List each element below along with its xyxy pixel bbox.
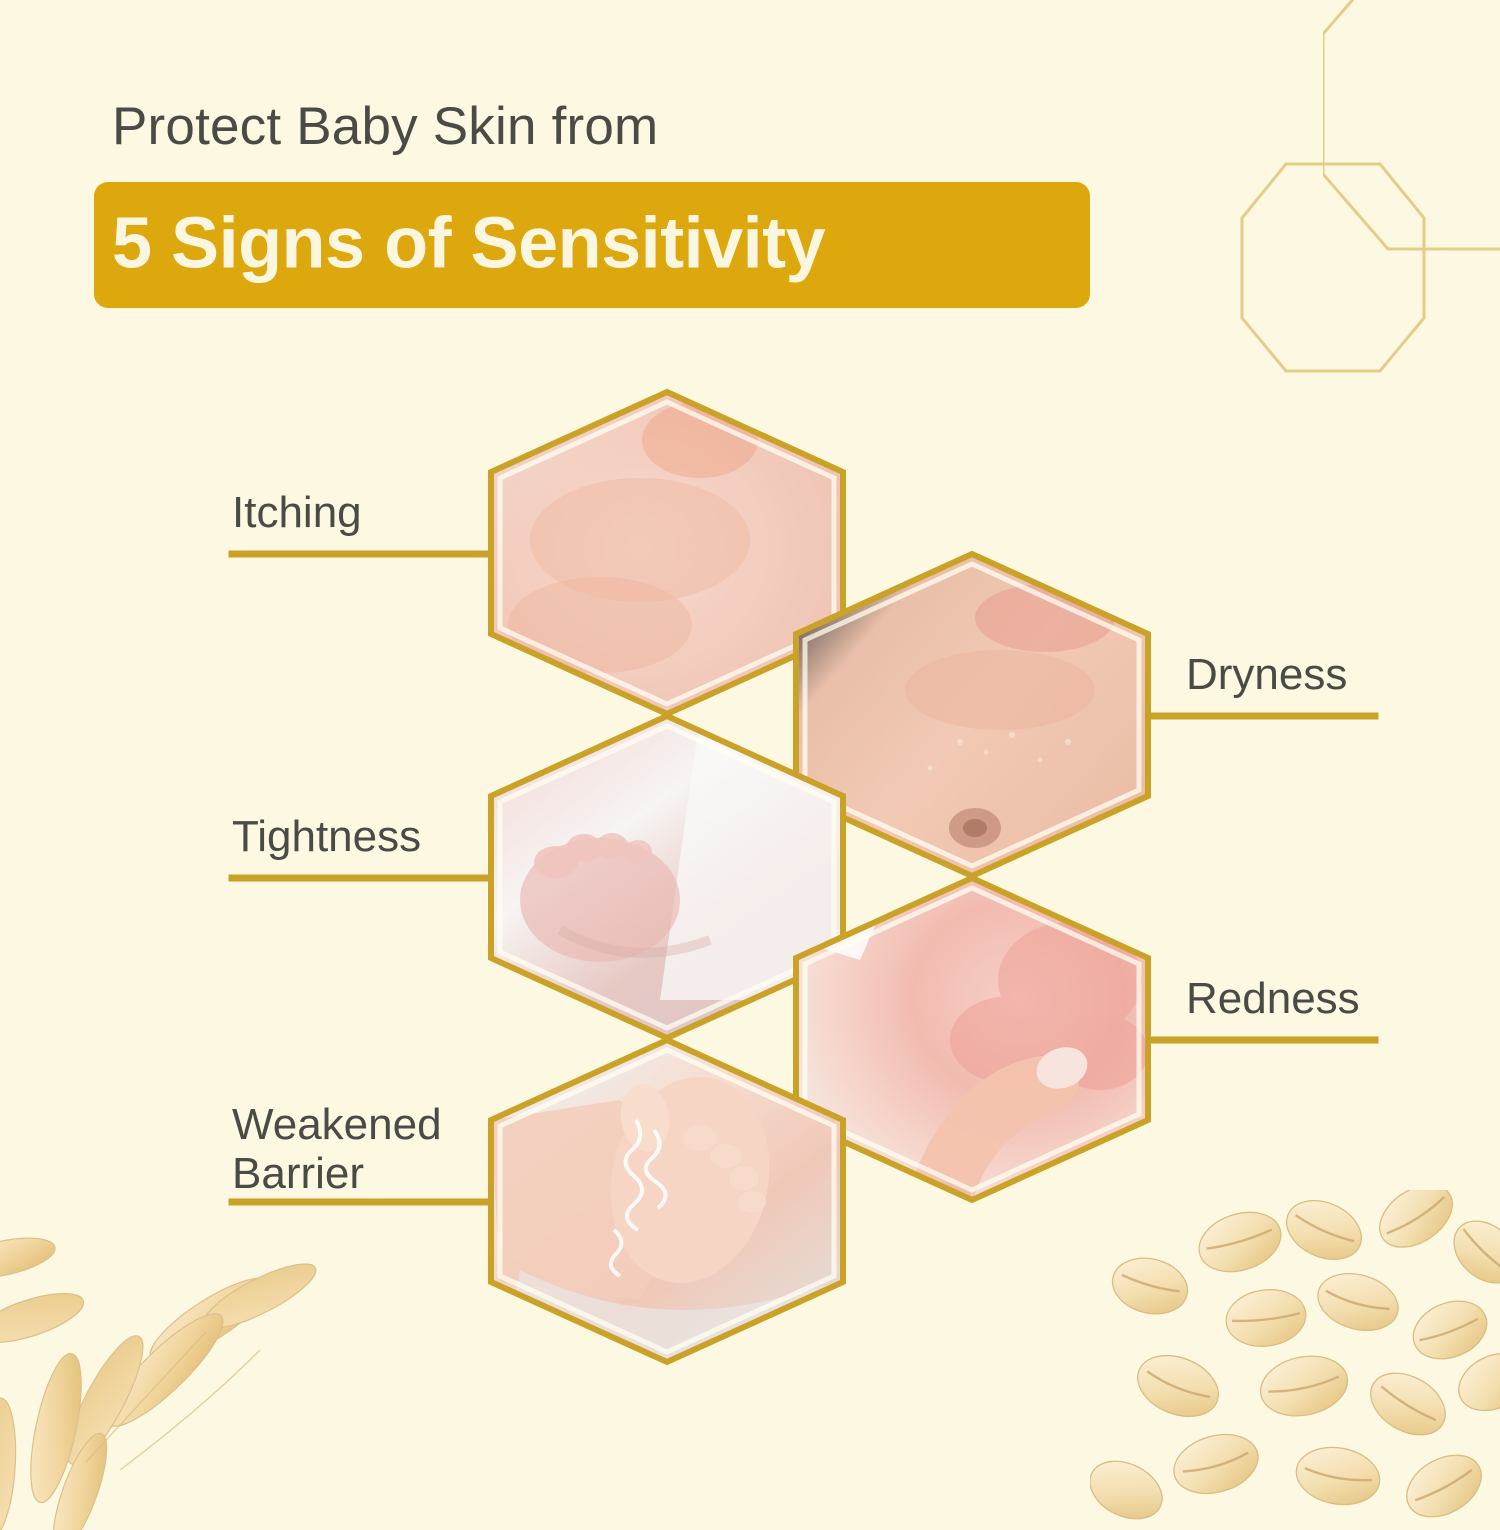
- sign-label-redness: Redness: [1186, 974, 1360, 1023]
- sign-label-tightness: Tightness: [232, 812, 421, 861]
- honeycomb-cluster: [0, 0, 1500, 1500]
- sign-label-weakened-barrier: Weakened Barrier: [232, 1100, 442, 1199]
- infographic-canvas: Protect Baby Skin from 5 Signs of Sensit…: [0, 0, 1500, 1500]
- sign-label-itching: Itching: [232, 488, 362, 537]
- sign-label-dryness: Dryness: [1186, 650, 1347, 699]
